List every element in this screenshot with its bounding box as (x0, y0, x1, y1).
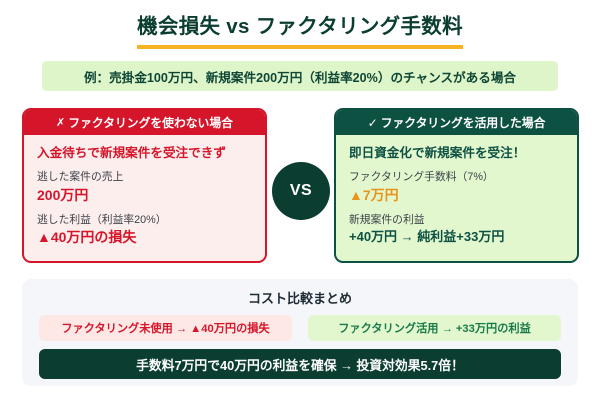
metric-lost-profit: 逃した利益（利益率20%） ▲40万円の損失 (37, 213, 252, 247)
summary-pill-row: ファクタリング未使用 → ▲40万円の損失 ファクタリング活用 → +33万円の… (39, 315, 561, 341)
metric-value: ▲7万円 (349, 186, 564, 205)
metric-label: 逃した利益（利益率20%） (37, 213, 252, 228)
summary-title: コスト比較まとめ (22, 288, 578, 307)
example-banner-text: 例：売掛金100万円、新規案件200万円（利益率20%）のチャンスがある場合 (84, 67, 516, 86)
summary-pill-profit: ファクタリング活用 → +33万円の利益 (308, 315, 561, 341)
metric-label: 新規案件の利益 (349, 213, 564, 228)
vs-badge: VS (272, 162, 330, 220)
card-headline: 入金待ちで新規案件を受注できず (37, 145, 252, 161)
scenario-card-with-factoring: ✓ ファクタリングを活用した場合 即日資金化で新規案件を受注！ ファクタリング手… (334, 108, 579, 263)
metric-lost-revenue: 逃した案件の売上 200万円 (37, 170, 252, 204)
summary-conclusion-bar: 手数料7万円で40万円の利益を確保 → 投資対効果5.7倍！ (39, 349, 561, 379)
card-header-without-factoring: ✗ ファクタリングを使わない場合 (24, 110, 265, 135)
card-body-with-factoring: 即日資金化で新規案件を受注！ ファクタリング手数料（7%） ▲7万円 新規案件の… (336, 135, 577, 246)
card-header-label: ファクタリングを活用した場合 (381, 114, 546, 131)
page-title: 機会損失 vs ファクタリング手数料 (137, 14, 463, 49)
card-headline: 即日資金化で新規案件を受注！ (349, 145, 564, 161)
metric-label: 逃した案件の売上 (37, 170, 252, 185)
cross-icon: ✗ (56, 116, 65, 129)
metric-value: 200万円 (37, 186, 252, 205)
infographic-canvas: 機会損失 vs ファクタリング手数料 例：売掛金100万円、新規案件200万円（… (0, 0, 600, 400)
card-header-label: ファクタリングを使わない場合 (68, 114, 233, 131)
check-icon: ✓ (368, 116, 378, 130)
metric-factoring-fee: ファクタリング手数料（7%） ▲7万円 (349, 170, 564, 204)
metric-value: +40万円 → 純利益+33万円 (349, 228, 564, 246)
example-banner: 例：売掛金100万円、新規案件200万円（利益率20%）のチャンスがある場合 (42, 61, 558, 91)
cost-comparison-summary: コスト比較まとめ ファクタリング未使用 → ▲40万円の損失 ファクタリング活用… (22, 279, 578, 386)
metric-label: ファクタリング手数料（7%） (349, 170, 564, 185)
card-body-without-factoring: 入金待ちで新規案件を受注できず 逃した案件の売上 200万円 逃した利益（利益率… (24, 135, 265, 247)
metric-net-profit: 新規案件の利益 +40万円 → 純利益+33万円 (349, 213, 564, 246)
metric-value: ▲40万円の損失 (37, 228, 252, 247)
scenario-card-without-factoring: ✗ ファクタリングを使わない場合 入金待ちで新規案件を受注できず 逃した案件の売… (22, 108, 267, 263)
vs-badge-label: VS (290, 182, 312, 200)
summary-pill-loss: ファクタリング未使用 → ▲40万円の損失 (39, 315, 292, 341)
title-container: 機会損失 vs ファクタリング手数料 (0, 14, 600, 49)
card-header-with-factoring: ✓ ファクタリングを活用した場合 (336, 110, 577, 135)
